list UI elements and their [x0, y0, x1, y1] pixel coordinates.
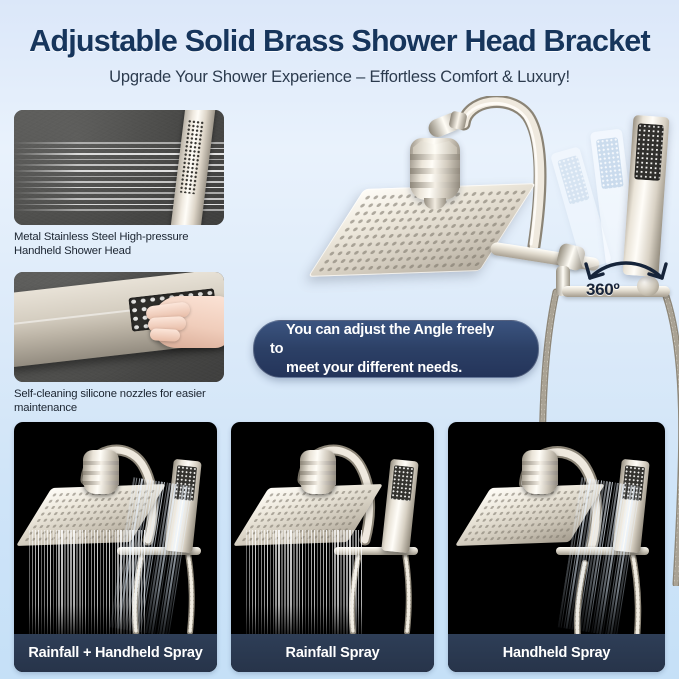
page-subtitle: Upgrade Your Shower Experience – Effortl…	[0, 68, 679, 87]
spray-mode-panel: Rainfall Spray	[231, 422, 434, 672]
callout-line-1: You can adjust the Angle freely to	[270, 322, 494, 357]
angle-callout-banner: You can adjust the Angle freely tomeet y…	[253, 320, 539, 378]
nozzle-face	[179, 119, 205, 195]
panel-caption-bar: Rainfall Spray	[231, 634, 434, 672]
feature-inset-jets	[14, 110, 224, 225]
filter-band	[410, 154, 460, 160]
spray-mode-panel: Rainfall + Handheld Spray	[14, 422, 217, 672]
spray-mode-panel: Handheld Spray	[448, 422, 665, 672]
callout-line-2: meet your different needs.	[270, 360, 478, 376]
callout-text: You can adjust the Angle freely tomeet y…	[254, 321, 538, 378]
mini-product-scene	[231, 422, 434, 634]
ghost-nozzle-face	[557, 155, 590, 205]
panel-label: Rainfall + Handheld Spray	[28, 645, 202, 661]
mini-product-scene	[14, 422, 217, 634]
product-infographic: Adjustable Solid Brass Shower Head Brack…	[0, 0, 679, 679]
hand-graphic	[134, 282, 224, 356]
filter-band	[410, 168, 460, 174]
wand-nozzle-face	[391, 465, 414, 501]
inset-caption-2: Self-cleaning silicone nozzles for easie…	[14, 388, 236, 415]
panel-caption-bar: Handheld Spray	[448, 634, 665, 672]
mini-product-scene	[448, 422, 665, 634]
rainfall-spray	[246, 530, 364, 634]
feature-inset-nozzles	[14, 272, 224, 382]
panel-label: Rainfall Spray	[286, 645, 380, 661]
ghost-nozzle-face	[596, 137, 624, 189]
handheld-wand	[622, 115, 669, 277]
filter-cartridge	[410, 138, 460, 200]
panel-caption-bar: Rainfall + Handheld Spray	[14, 634, 217, 672]
filter-cartridge	[83, 450, 119, 494]
page-title: Adjustable Solid Brass Shower Head Brack…	[0, 24, 679, 59]
rotation-label: 360º	[586, 280, 619, 300]
wand-nozzle-face	[634, 123, 664, 181]
panel-label: Handheld Spray	[503, 645, 611, 661]
filter-cartridge	[522, 450, 558, 494]
finger	[150, 328, 181, 342]
filter-band	[410, 182, 460, 188]
filter-cartridge	[300, 450, 336, 494]
inset-caption-1: Metal Stainless Steel High-pressure Hand…	[14, 231, 236, 258]
